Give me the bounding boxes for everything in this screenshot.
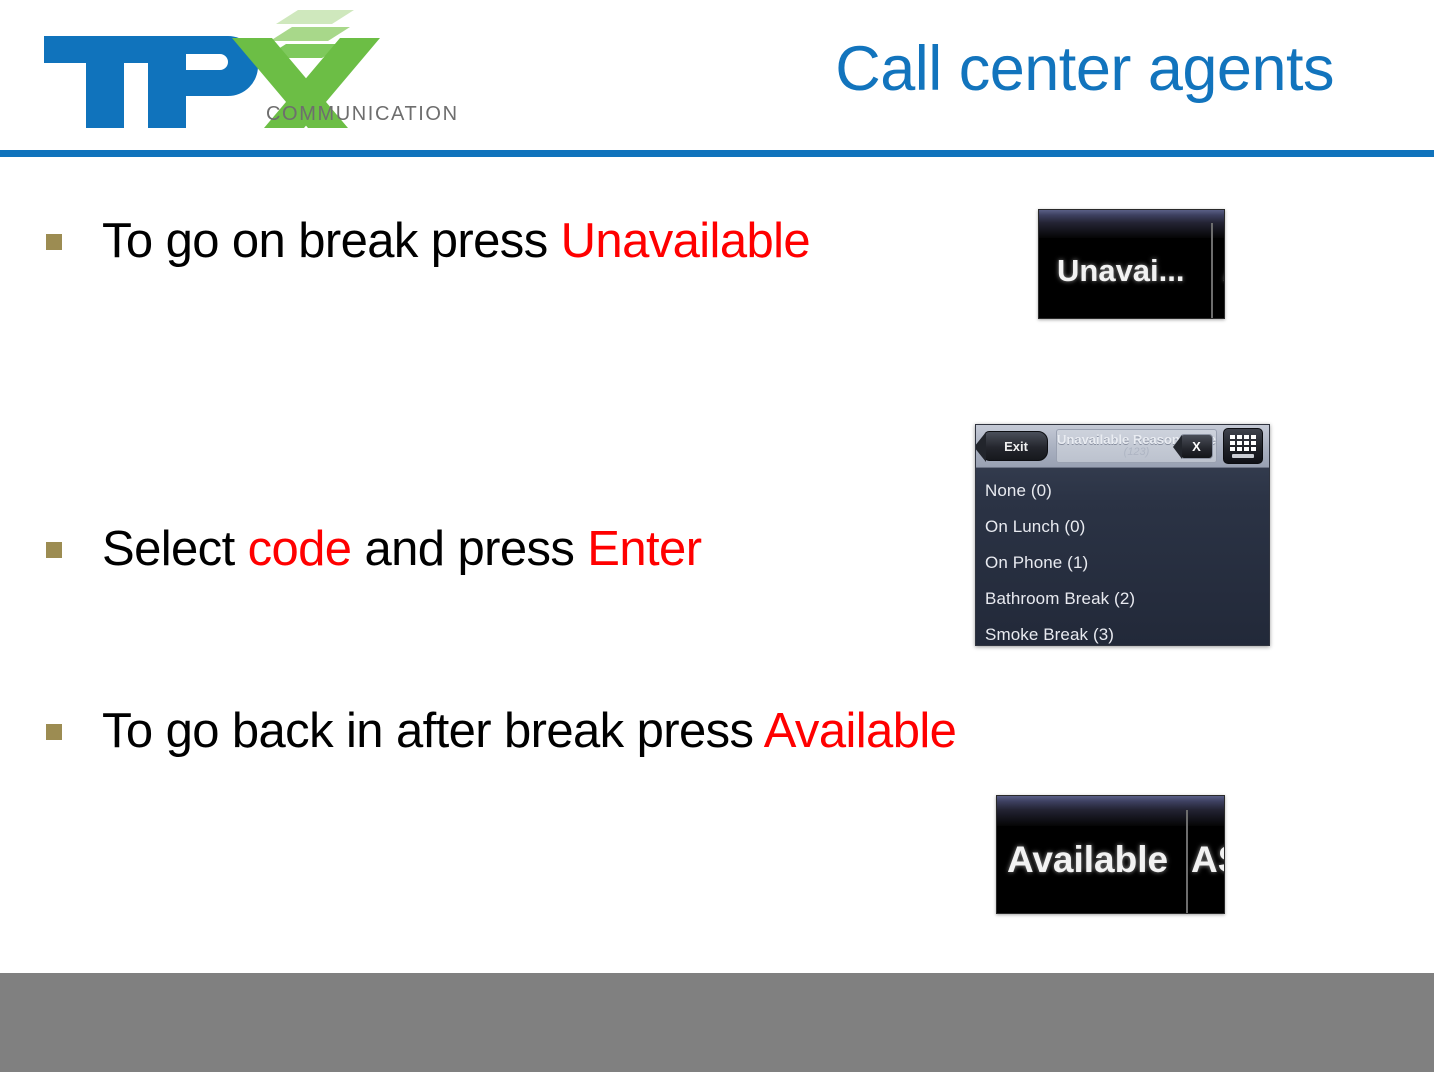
logo-tagline: COMMUNICATIONS — [266, 103, 456, 125]
list-item[interactable]: Bathroom Break (2) — [976, 581, 1269, 617]
logo-letter-p — [148, 36, 258, 128]
footer-bar — [0, 973, 1434, 1072]
bullet-square-icon — [46, 724, 62, 740]
slide-header: COMMUNICATIONS Call center agents — [0, 0, 1434, 150]
softkey-available-label[interactable]: Available — [997, 796, 1168, 913]
bullet-text-1: To go on break press Unavailable — [102, 216, 810, 267]
phone-softkey-strip-unavailable: Unavai... A — [1038, 209, 1225, 319]
clear-icon[interactable]: X — [1180, 434, 1213, 459]
softkey-row: Available AS — [997, 796, 1224, 913]
bullet-3-part-1: Available — [764, 704, 957, 758]
softkey-unavailable-label[interactable]: Unavai... — [1039, 210, 1185, 318]
bullet-item-1: To go on break press Unavailable — [46, 216, 810, 267]
softkey-row: Unavai... A — [1039, 210, 1224, 318]
bullet-square-icon — [46, 542, 62, 558]
list-item[interactable]: On Lunch (0) — [976, 509, 1269, 545]
keypad-icon[interactable] — [1223, 428, 1263, 464]
bullet-square-icon — [46, 234, 62, 250]
list-item[interactable]: None (0) — [976, 473, 1269, 509]
bullet-text-3: To go back in after break press Availabl… — [102, 706, 956, 757]
unavailable-reason-code-panel[interactable]: Exit Unavailable Reason Code (123) X Non… — [975, 424, 1270, 646]
bullet-3-part-0: To go back in after break press — [102, 704, 764, 758]
reason-code-list: None (0) On Lunch (0) On Phone (1) Bathr… — [976, 468, 1269, 646]
reason-code-header: Exit Unavailable Reason Code (123) X — [976, 425, 1269, 468]
phone-softkey-strip-available: Available AS — [996, 795, 1225, 914]
bullet-text-2: Select code and press Enter — [102, 524, 701, 575]
softkey-divider — [1186, 810, 1188, 913]
bullet-1-part-0: To go on break press — [102, 214, 561, 268]
keypad-bar — [1232, 454, 1254, 458]
bullet-2-part-0: Select — [102, 522, 248, 576]
bullet-2-part-1: code — [248, 522, 352, 576]
list-item[interactable]: Smoke Break (3) — [976, 617, 1269, 646]
bullet-item-2: Select code and press Enter — [46, 524, 701, 575]
bullet-item-3: To go back in after break press Availabl… — [46, 706, 956, 757]
logo-letter-t — [44, 36, 166, 128]
slide: COMMUNICATIONS Call center agents To go … — [0, 0, 1434, 1072]
bullet-1-part-1: Unavailable — [561, 214, 810, 268]
reason-code-field-hint: (123) — [1124, 447, 1150, 459]
tpx-logo: COMMUNICATIONS — [36, 8, 456, 133]
softkey-as-partial-label[interactable]: AS — [1191, 796, 1225, 913]
bullet-2-part-3: Enter — [587, 522, 701, 576]
header-divider-rule — [0, 150, 1434, 157]
bullet-2-part-2: and press — [351, 522, 587, 576]
reason-code-search-field[interactable]: Unavailable Reason Code (123) X — [1056, 429, 1217, 463]
exit-button[interactable]: Exit — [984, 431, 1048, 461]
clear-icon-glyph: X — [1192, 440, 1201, 453]
list-item[interactable]: On Phone (1) — [976, 545, 1269, 581]
keypad-dots — [1230, 435, 1256, 451]
softkey-available-partial-label[interactable]: A — [1223, 210, 1225, 318]
softkey-divider — [1211, 223, 1213, 318]
page-title: Call center agents — [835, 38, 1334, 101]
